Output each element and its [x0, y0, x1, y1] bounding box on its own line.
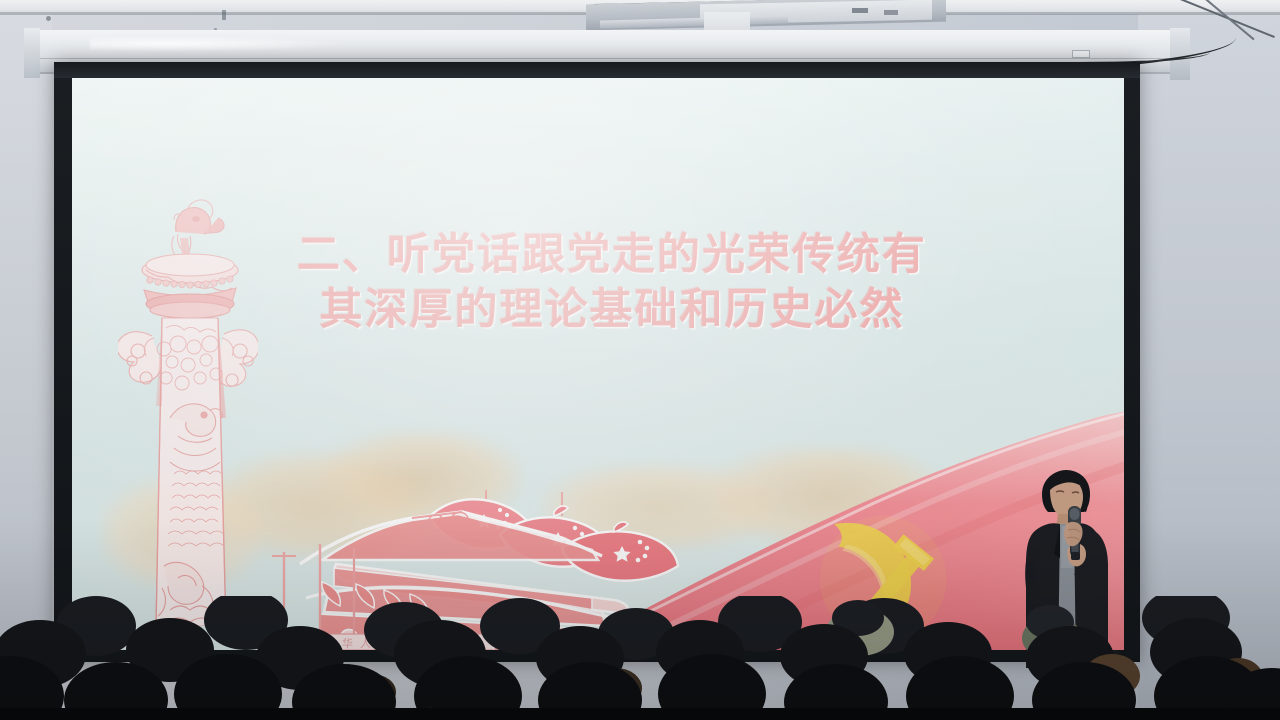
slide-title-line-1: 二、听党话跟党走的光荣传统有	[212, 228, 1012, 283]
slide-title-line-2: 其深厚的理论基础和历史必然	[212, 283, 1012, 338]
cable-clip	[1072, 50, 1090, 58]
presentation-slide: 中华人民共和国	[72, 78, 1124, 650]
slide-title: 二、听党话跟党走的光荣传统有 其深厚的理论基础和历史必然	[212, 228, 1012, 338]
ceiling-mark	[222, 10, 226, 20]
audience-silhouettes	[0, 596, 1280, 720]
ceiling-mark	[46, 16, 51, 21]
mount-bolt	[852, 8, 868, 13]
mount-bolt	[884, 10, 898, 15]
valance-highlight	[90, 36, 350, 52]
projection-screen-frame-top	[54, 62, 1140, 78]
screenshot-root: 中华人民共和国	[0, 0, 1280, 720]
valance-end-cap-left	[24, 28, 40, 78]
projection-screen: 中华人民共和国	[72, 78, 1124, 650]
